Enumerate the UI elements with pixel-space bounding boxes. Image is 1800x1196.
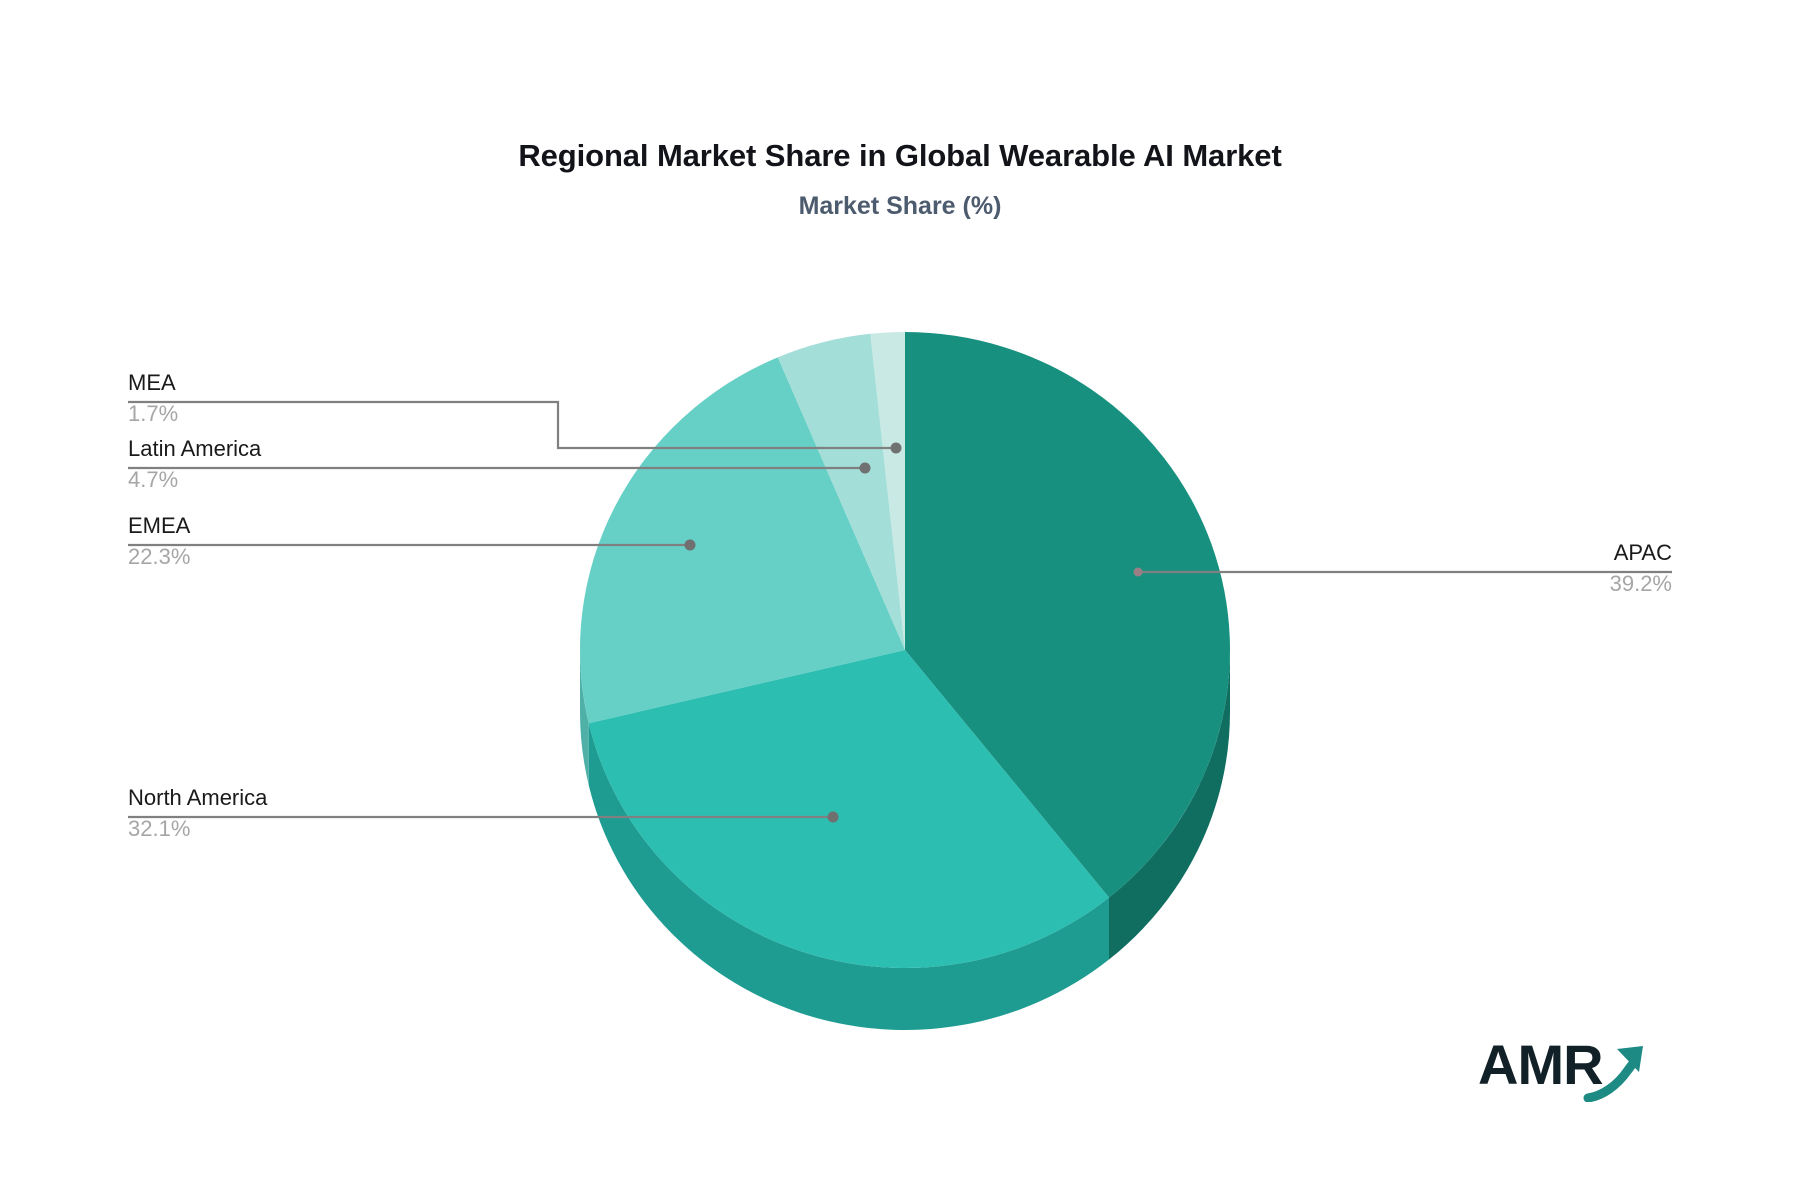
label-mea[interactable]: MEA 1.7% [128,368,178,430]
leader-dot-apac [1134,568,1143,577]
leader-dot-latin-america [860,463,871,474]
label-latin-america[interactable]: Latin America 4.7% [128,434,261,496]
label-apac-value: 39.2% [1610,568,1672,600]
leader-dot-emea [685,540,696,551]
amr-logo[interactable]: AMR [1478,1030,1653,1102]
amr-logo-text: AMR [1478,1033,1603,1096]
label-mea-value: 1.7% [128,398,178,430]
leader-dot-north-america [828,812,839,823]
label-mea-name: MEA [128,368,178,398]
label-latin-america-value: 4.7% [128,464,261,496]
label-emea[interactable]: EMEA 22.3% [128,511,190,573]
label-north-america[interactable]: North America 32.1% [128,783,267,845]
pie-chart-graphic [0,0,1800,1196]
chart-canvas: Regional Market Share in Global Wearable… [0,0,1800,1196]
label-apac-name: APAC [1610,538,1672,568]
label-latin-america-name: Latin America [128,434,261,464]
label-north-america-name: North America [128,783,267,813]
pie-top-face [580,332,1230,968]
label-emea-value: 22.3% [128,541,190,573]
leader-dot-mea [891,443,902,454]
label-emea-name: EMEA [128,511,190,541]
label-north-america-value: 32.1% [128,813,267,845]
label-apac[interactable]: APAC 39.2% [1610,538,1672,600]
